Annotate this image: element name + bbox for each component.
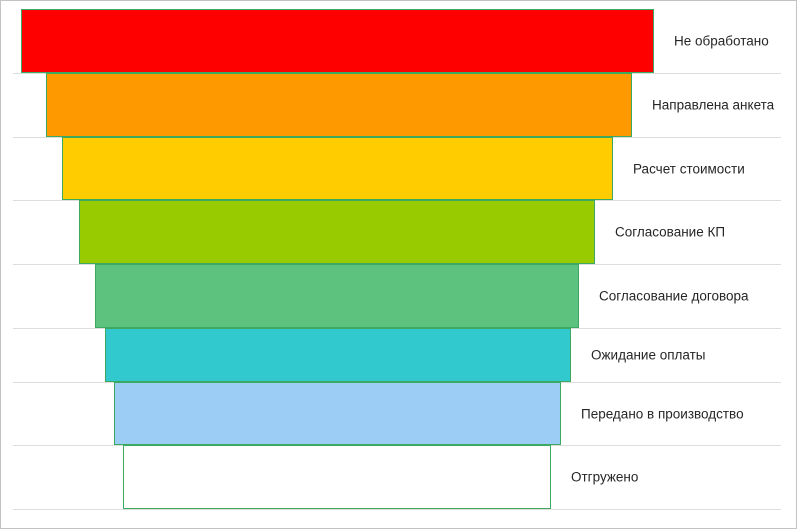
funnel-bar-label: Направлена анкета <box>652 98 774 112</box>
funnel-bar-label: Согласование договора <box>599 289 749 303</box>
funnel-stage[interactable]: Направлена анкета <box>1 73 797 137</box>
funnel-stage[interactable]: Расчет стоимости <box>1 137 797 200</box>
funnel-stage[interactable]: Отгружено <box>1 445 797 509</box>
funnel-chart: Не обработаноНаправлена анкетаРасчет сто… <box>0 0 797 529</box>
funnel-bar-label: Не обработано <box>674 34 769 48</box>
funnel-bar[interactable] <box>123 445 551 509</box>
funnel-bar[interactable] <box>95 264 579 328</box>
funnel-bar-label: Согласование КП <box>615 225 725 239</box>
funnel-bar[interactable] <box>21 9 654 73</box>
funnel-stage[interactable]: Согласование КП <box>1 200 797 264</box>
funnel-stage[interactable]: Согласование договора <box>1 264 797 328</box>
funnel-bar-label: Передано в производство <box>581 407 744 421</box>
funnel-bar[interactable] <box>79 200 595 264</box>
funnel-bar-label: Отгружено <box>571 470 638 484</box>
funnel-bar-label: Ожидание оплаты <box>591 348 706 362</box>
plot-area: Не обработаноНаправлена анкетаРасчет сто… <box>1 1 797 529</box>
funnel-bar[interactable] <box>114 382 561 445</box>
funnel-bar[interactable] <box>46 73 632 137</box>
funnel-bar[interactable] <box>105 328 571 382</box>
funnel-stage[interactable]: Не обработано <box>1 9 797 73</box>
funnel-stage[interactable]: Передано в производство <box>1 382 797 445</box>
funnel-bar-label: Расчет стоимости <box>633 162 745 176</box>
funnel-stage[interactable]: Ожидание оплаты <box>1 328 797 382</box>
gridline <box>13 509 781 510</box>
funnel-bar[interactable] <box>62 137 613 200</box>
